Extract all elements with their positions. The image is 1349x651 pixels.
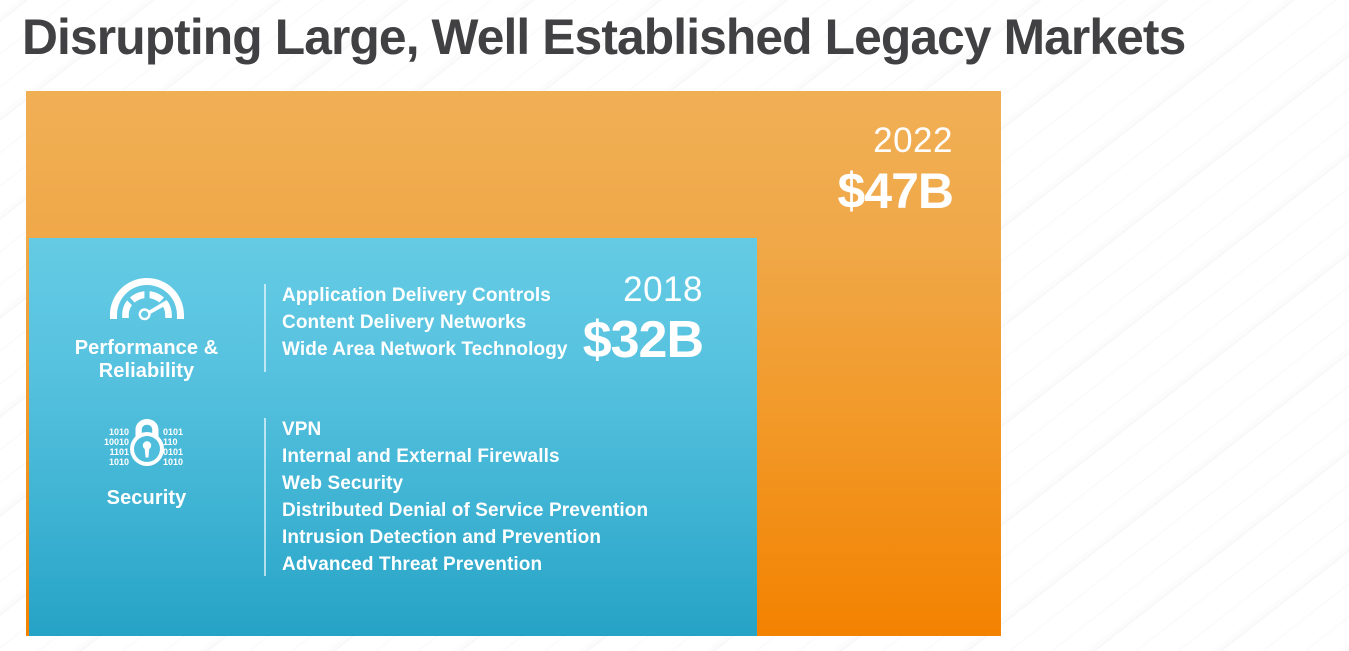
list-item: Distributed Denial of Service Prevention: [282, 497, 648, 524]
svg-text:1010: 1010: [108, 427, 128, 437]
speedometer-gauge-icon: [106, 276, 188, 327]
svg-text:1101: 1101: [109, 447, 129, 457]
svg-text:0101: 0101: [163, 447, 183, 457]
svg-text:10010: 10010: [103, 437, 128, 447]
category-security-label: Security: [107, 487, 187, 510]
category-performance-label: Performance & Reliability: [75, 337, 219, 383]
category-security-header: 1010 10010 1101 1010 0101 110 0101 1010: [29, 416, 264, 510]
svg-text:1010: 1010: [163, 457, 183, 467]
market-year-2018: 2018: [583, 270, 703, 310]
list-item: Intrusion Detection and Prevention: [282, 524, 648, 551]
category-performance-label-line2: Reliability: [99, 360, 195, 382]
category-performance-header: Performance & Reliability: [29, 276, 264, 383]
market-amount-2018: $32B: [583, 311, 703, 369]
page-title: Disrupting Large, Well Established Legac…: [22, 6, 1325, 72]
category-performance-reliability: Performance & Reliability Application De…: [29, 276, 568, 383]
svg-text:110: 110: [163, 437, 178, 447]
market-label-2018: 2018 $32B: [583, 270, 703, 369]
list-item: Advanced Threat Prevention: [282, 551, 648, 578]
list-item: Application Delivery Controls: [282, 282, 568, 309]
list-item: VPN: [282, 416, 648, 443]
list-item: Content Delivery Networks: [282, 309, 568, 336]
market-bar-2018: 2018 $32B: [29, 238, 757, 636]
category-performance-list: Application Delivery Controls Content De…: [282, 276, 568, 363]
category-security: 1010 10010 1101 1010 0101 110 0101 1010: [29, 416, 648, 578]
list-item: Wide Area Network Technology: [282, 336, 568, 363]
padlock-binary-icon: 1010 10010 1101 1010 0101 110 0101 1010: [99, 416, 195, 477]
list-item: Web Security: [282, 470, 648, 497]
market-label-2022: 2022 $47B: [837, 121, 953, 219]
market-amount-2022: $47B: [837, 163, 953, 219]
svg-text:1010: 1010: [108, 457, 128, 467]
category-performance-label-line1: Performance &: [75, 337, 219, 359]
svg-text:0101: 0101: [163, 427, 183, 437]
market-year-2022: 2022: [837, 121, 953, 161]
category-performance-divider: [264, 284, 266, 372]
list-item: Internal and External Firewalls: [282, 443, 648, 470]
category-security-list: VPN Internal and External Firewalls Web …: [282, 416, 648, 578]
category-security-divider: [264, 418, 266, 576]
slide-canvas: Disrupting Large, Well Established Legac…: [0, 0, 1349, 651]
